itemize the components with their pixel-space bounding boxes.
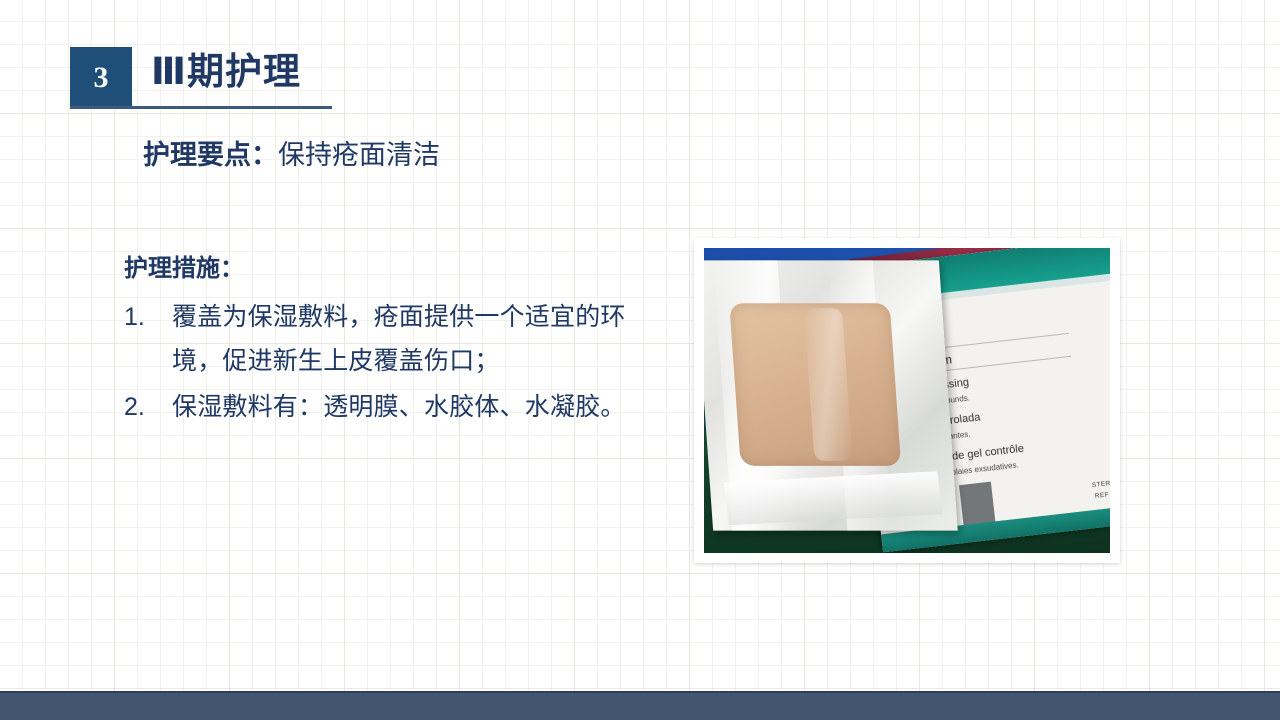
- measures-heading: 护理措施：: [124, 253, 664, 285]
- list-item-text: 保湿敷料有：透明膜、水胶体、水凝胶。: [172, 385, 664, 429]
- hydrocolloid-dressing-package-photo: …ERM CGF …0cm x 10cm …ormula Dressing …e…: [704, 248, 1110, 553]
- list-item-text: 覆盖为保湿敷料，疮面提供一个适宜的环境，促进新生上皮覆盖伤口；: [172, 295, 664, 383]
- section-number-badge: 3: [70, 47, 132, 109]
- list-item: 1. 覆盖为保湿敷料，疮面提供一个适宜的环境，促进新生上皮覆盖伤口；: [124, 295, 664, 383]
- photo-frame: …ERM CGF …0cm x 10cm …ormula Dressing …e…: [694, 238, 1120, 563]
- sachet-fold: [723, 472, 942, 526]
- list-item-number: 2.: [124, 385, 172, 429]
- title-underline-rule: [70, 106, 332, 109]
- key-point-value: 保持疮面清洁: [278, 140, 440, 170]
- measures-block: 护理措施： 1. 覆盖为保湿敷料，疮面提供一个适宜的环境，促进新生上皮覆盖伤口；…: [124, 253, 664, 431]
- carton-sterile-code: STERILE EO: [1092, 477, 1110, 489]
- photo-dressing-sachet: [704, 261, 957, 532]
- key-point-line: 护理要点：保持疮面清洁: [143, 138, 440, 173]
- list-item: 2. 保湿敷料有：透明膜、水胶体、水凝胶。: [124, 385, 664, 429]
- pad-highlight: [803, 309, 852, 462]
- slide-title-block: 3 Ⅲ期护理: [70, 47, 301, 109]
- list-item-number: 1.: [124, 295, 172, 339]
- photo-dressing-pad: [729, 304, 902, 466]
- key-point-label: 护理要点：: [143, 140, 278, 170]
- page-title: Ⅲ期护理: [151, 47, 301, 93]
- footer-bar: [0, 691, 1280, 720]
- slide-canvas: 3 Ⅲ期护理 护理要点：保持疮面清洁 护理措施： 1. 覆盖为保湿敷料，疮面提供…: [0, 0, 1280, 720]
- carton-ref-code: REF 187880: [1095, 489, 1110, 501]
